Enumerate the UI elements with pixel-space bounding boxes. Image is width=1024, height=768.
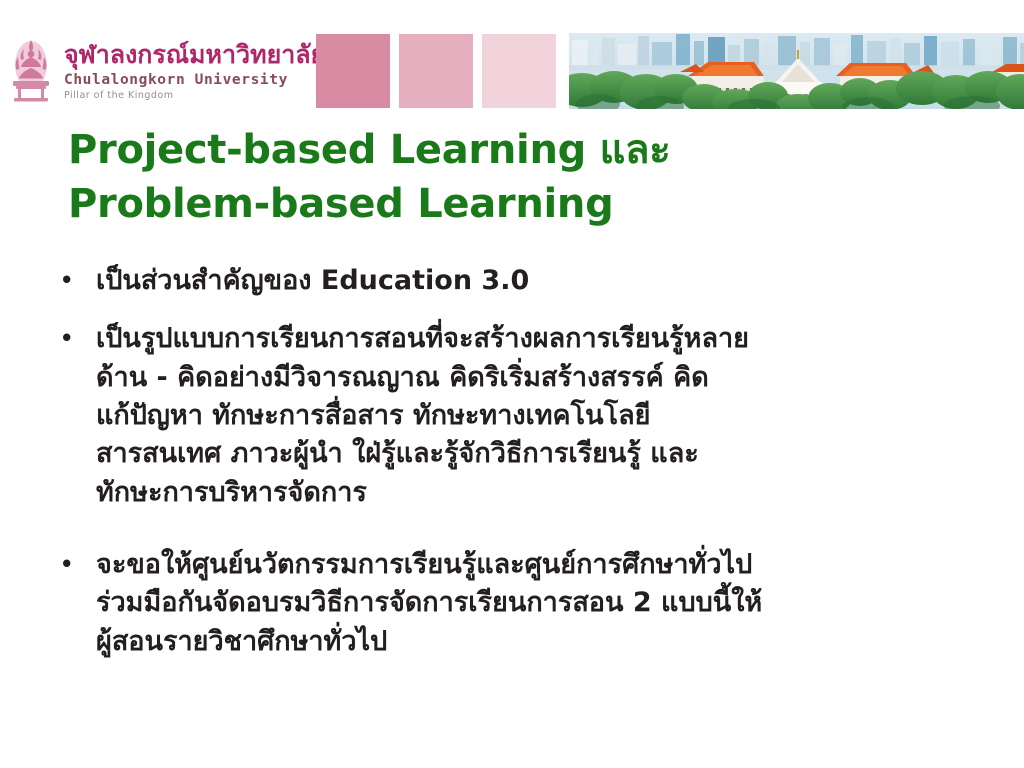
presentation-slide: จุฬาลงกรณ์มหาวิทยาลัย Chulalongkorn Univ…	[0, 0, 1024, 768]
bullet-line: เป็นส่วนสำคัญของ Education 3.0	[96, 262, 996, 300]
bullet-learning-outcomes-text: เป็นรูปแบบการเรียนการสอนที่จะสร้างผลการเ…	[96, 320, 996, 512]
chulalongkorn-campus-aerial-photo	[568, 32, 1024, 110]
bullet-line: จะขอให้ศูนย์นวัตกรรมการเรียนรู้และศูนย์ก…	[96, 546, 996, 584]
bullet-training-request-text: จะขอให้ศูนย์นวัตกรรมการเรียนรู้และศูนย์ก…	[96, 546, 996, 661]
swatch-light-pink	[482, 34, 556, 108]
bullet-line: เป็นรูปแบบการเรียนการสอนที่จะสร้างผลการเ…	[96, 320, 996, 358]
bullet-line: ทักษะการบริหารจัดการ	[96, 474, 996, 512]
swatch-mid-pink	[399, 34, 473, 108]
spacer	[56, 300, 996, 320]
header-banner: จุฬาลงกรณ์มหาวิทยาลัย Chulalongkorn Univ…	[0, 26, 1024, 116]
slide-title-line-2: Problem-based Learning	[68, 178, 968, 232]
bullet-line: ร่วมมือกันจัดอบรมวิธีการจัดการเรียนการสอ…	[96, 584, 996, 622]
bullet-marker-icon: •	[56, 546, 96, 582]
bullet-marker-icon: •	[56, 262, 96, 298]
bullet-line: ด้าน - คิดอย่างมีวิจารณญาณ คิดริเริ่มสร้…	[96, 359, 996, 397]
bullet-line: แก้ปัญหา ทักษะการสื่อสาร ทักษะทางเทคโนโล…	[96, 397, 996, 435]
university-logo: จุฬาลงกรณ์มหาวิทยาลัย Chulalongkorn Univ…	[0, 28, 300, 114]
bullet-line: ผู้สอนรายวิชาศึกษาทั่วไป	[96, 623, 996, 661]
logo-text-block: จุฬาลงกรณ์มหาวิทยาลัย Chulalongkorn Univ…	[54, 41, 325, 101]
bullet-learning-outcomes: • เป็นรูปแบบการเรียนการสอนที่จะสร้างผลกา…	[56, 320, 996, 512]
logo-thai-name: จุฬาลงกรณ์มหาวิทยาลัย	[64, 41, 325, 70]
bullet-education-30: • เป็นส่วนสำคัญของ Education 3.0	[56, 262, 996, 300]
bullet-line: สารสนเทศ ภาวะผู้นำ ใฝ่รู้และรู้จักวิธีกา…	[96, 435, 996, 473]
bullet-marker-icon: •	[56, 320, 96, 356]
swatch-dark-pink	[316, 34, 390, 108]
logo-tagline: Pillar of the Kingdom	[64, 91, 325, 101]
spacer	[56, 512, 996, 546]
slide-body: • เป็นส่วนสำคัญของ Education 3.0 • เป็นร…	[56, 262, 996, 661]
bullet-education-30-text: เป็นส่วนสำคัญของ Education 3.0	[96, 262, 996, 300]
slide-title-line-1: Project-based Learning และ	[68, 124, 968, 178]
slide-title: Project-based Learning และ Problem-based…	[68, 124, 968, 231]
bullet-training-request: • จะขอให้ศูนย์นวัตกรรมการเรียนรู้และศูนย…	[56, 546, 996, 661]
phra-kiao-emblem-icon	[8, 35, 54, 107]
logo-english-name: Chulalongkorn University	[64, 73, 325, 88]
color-swatch-group	[316, 34, 556, 108]
